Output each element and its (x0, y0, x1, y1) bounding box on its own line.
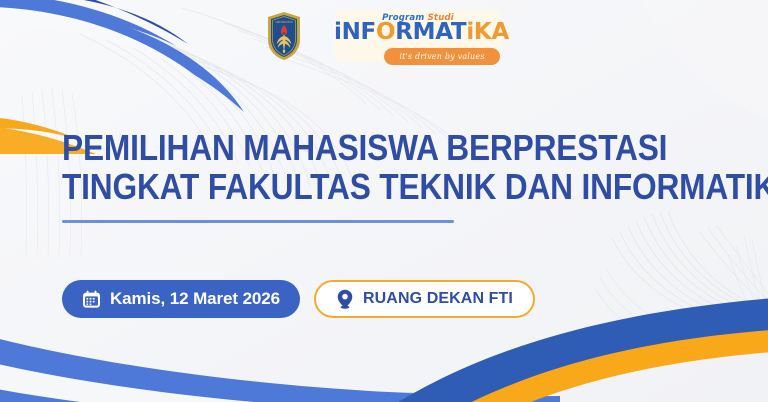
location-pin-icon (336, 289, 354, 309)
informatika-logo: Program Studi iNFORMATiKA it's driven by… (334, 10, 502, 62)
event-banner: UNIVERSITAS Program Studi iNFORMATiKA it… (0, 0, 768, 402)
title-block: PEMILIHAN MAHASISWA BERPRESTASI TINGKAT … (62, 128, 722, 223)
location-badge[interactable]: RUANG DEKAN FTI (314, 280, 535, 318)
calendar-icon (82, 290, 101, 309)
title-line-1: PEMILIHAN MAHASISWA BERPRESTASI (62, 128, 643, 167)
date-badge[interactable]: Kamis, 12 Maret 2026 (62, 280, 300, 318)
location-badge-label: RUANG DEKAN FTI (363, 290, 513, 308)
logo-row: UNIVERSITAS Program Studi iNFORMATiKA it… (0, 8, 768, 64)
title-line-2: TINGKAT FAKULTAS TEKNIK DAN INFORMATIKA (62, 167, 643, 206)
svg-text:UNIVERSITAS: UNIVERSITAS (275, 20, 292, 24)
informatika-tagline-ribbon: it's driven by values (384, 48, 500, 65)
informatika-wordmark: iNFORMATiKA (334, 21, 502, 44)
shield-emblem-icon: UNIVERSITAS (266, 11, 302, 61)
title-underline-rule (62, 220, 454, 223)
date-badge-label: Kamis, 12 Maret 2026 (110, 289, 280, 309)
info-badges: Kamis, 12 Maret 2026 RUANG DEKAN FTI (62, 280, 535, 318)
page-title: PEMILIHAN MAHASISWA BERPRESTASI TINGKAT … (62, 128, 643, 206)
